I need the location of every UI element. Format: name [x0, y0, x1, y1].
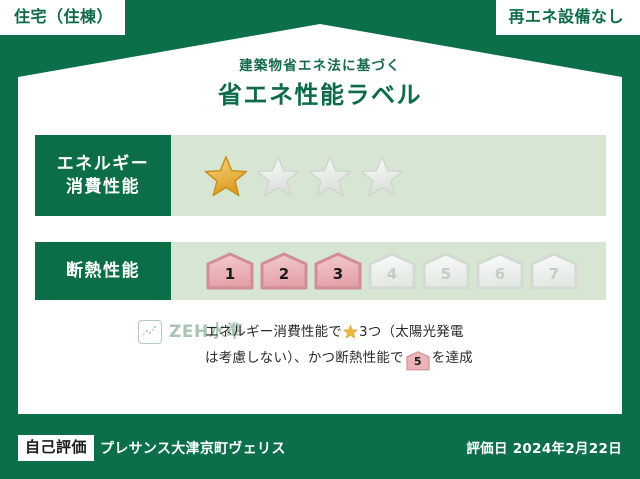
- house-badge-value: 2: [279, 267, 289, 291]
- house-badge-value: 7: [549, 267, 559, 291]
- zeh-note-area: ZEH水準 エネルギー消費性能で3つ（太陽光発電は考慮しない）、かつ断熱性能で5…: [35, 320, 606, 370]
- footer: 自己評価 プレサンス大津京町ヴェリス 評価日 2024年2月22日: [0, 414, 640, 479]
- house-badge-list: 1234567: [204, 251, 582, 291]
- energy-performance-row: エネルギー 消費性能: [35, 135, 606, 216]
- zeh-achievement-note: エネルギー消費性能で3つ（太陽光発電は考慮しない）、かつ断熱性能で5を達成: [195, 320, 606, 370]
- zeh-standard-block: ZEH水準: [35, 320, 195, 344]
- self-evaluation-badge: 自己評価: [18, 435, 94, 461]
- inline-house-badge-value: 5: [414, 355, 422, 368]
- dwelling-type-badge: 住宅（住棟）: [0, 0, 125, 35]
- zeh-chart-icon: [138, 320, 162, 344]
- building-name: プレサンス大津京町ヴェリス: [100, 438, 286, 458]
- renewable-equipment-badge: 再エネ設備なし: [496, 0, 640, 35]
- note-text-part3: は考慮しない）、かつ断熱性能で: [205, 350, 404, 366]
- house-badge-7: 7: [528, 251, 580, 291]
- energy-label-line1: エネルギー: [57, 153, 150, 176]
- house-badge-value: 3: [333, 267, 343, 291]
- house-badge-value: 1: [225, 267, 235, 291]
- insulation-rating: 1234567: [171, 242, 606, 300]
- house-badge-value: 4: [387, 267, 397, 291]
- evaluation-date: 評価日 2024年2月22日: [466, 437, 622, 457]
- insulation-performance-label: 断熱性能: [35, 242, 171, 300]
- star-icon-empty: [308, 155, 352, 197]
- house-badge-4: 4: [366, 251, 418, 291]
- energy-performance-label: エネルギー 消費性能: [35, 135, 171, 216]
- house-badge-5: 5: [420, 251, 472, 291]
- house-badge-2: 2: [258, 251, 310, 291]
- star-icon-empty: [256, 155, 300, 197]
- insulation-performance-row: 断熱性能 1234567: [35, 242, 606, 300]
- star-icon-filled: [204, 155, 248, 197]
- title-block: 建築物省エネ法に基づく 省エネ性能ラベル: [18, 60, 622, 107]
- note-text-part1: エネルギー消費性能で: [205, 324, 342, 340]
- footer-left: 自己評価 プレサンス大津京町ヴェリス: [18, 435, 286, 461]
- house-badge-value: 5: [441, 267, 451, 291]
- note-text-part2: 3つ（太陽光発電: [359, 324, 464, 340]
- note-text-part4: を達成: [432, 350, 473, 366]
- page-title: 省エネ性能ラベル: [18, 83, 622, 107]
- house-badge-6: 6: [474, 251, 526, 291]
- energy-label-line2: 消費性能: [66, 176, 140, 199]
- title-subtitle: 建築物省エネ法に基づく: [18, 60, 622, 74]
- label-panel: 建築物省エネ法に基づく 省エネ性能ラベル エネルギー 消費性能 断熱性能 123…: [18, 24, 622, 414]
- house-badge-3: 3: [312, 251, 364, 291]
- star-icon-empty: [360, 155, 404, 197]
- insulation-label-line1: 断熱性能: [66, 260, 140, 283]
- house-badge-1: 1: [204, 251, 256, 291]
- energy-performance-label: 住宅（住棟） 再エネ設備なし 建築物省エネ法に基づく 省エネ性能ラベル エネルギ…: [0, 0, 640, 479]
- star-icon: [343, 324, 358, 347]
- inline-house-badge: 5: [406, 350, 430, 367]
- star-rating: [171, 135, 606, 216]
- house-badge-value: 6: [495, 267, 505, 291]
